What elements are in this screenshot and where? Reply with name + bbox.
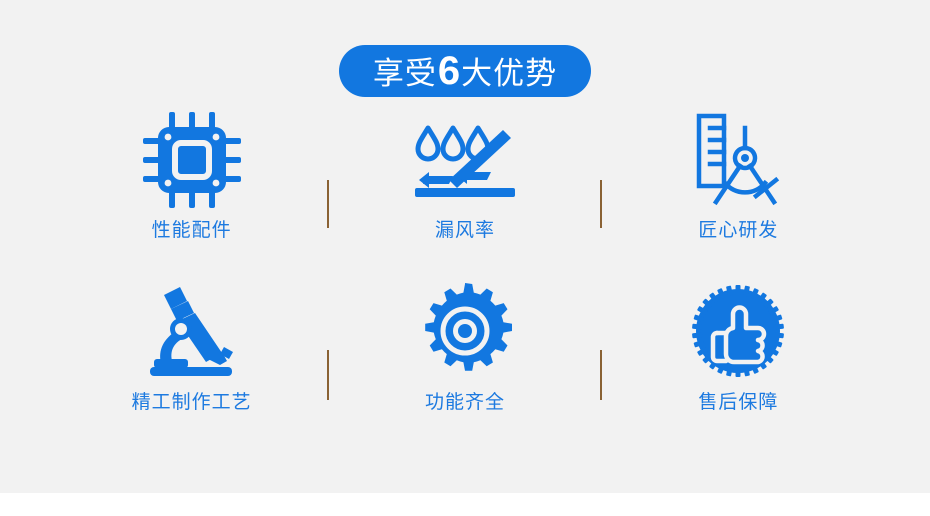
feature-label: 性能配件 xyxy=(152,220,232,243)
feature-label: 漏风率 xyxy=(435,220,495,243)
feature-row-2: 精工制作工艺 功能齐全 xyxy=(55,278,875,448)
gear-icon xyxy=(415,278,515,384)
banner-row: 享受6大优势 xyxy=(0,45,930,97)
feature-item-craftsman-rnd[interactable]: 匠心研发 xyxy=(602,108,875,278)
feature-item-air-leakage-rate[interactable]: 漏风率 xyxy=(328,108,601,278)
feature-item-performance-parts[interactable]: 性能配件 xyxy=(55,108,328,278)
column-divider xyxy=(327,350,329,400)
ruler-compass-icon xyxy=(688,108,788,212)
feature-grid: 性能配件 xyxy=(55,108,875,448)
feature-item-after-sales-guarantee[interactable]: 售后保障 xyxy=(602,278,875,448)
feature-label: 匠心研发 xyxy=(698,220,778,243)
headline-number: 6 xyxy=(437,45,461,97)
feature-row-1: 性能配件 xyxy=(55,108,875,278)
microscope-icon xyxy=(140,278,244,384)
feature-item-full-function[interactable]: 功能齐全 xyxy=(328,278,601,448)
promo-page: 享受6大优势 xyxy=(0,0,930,516)
feature-label: 功能齐全 xyxy=(425,392,505,415)
feature-item-fine-workmanship[interactable]: 精工制作工艺 xyxy=(55,278,328,448)
feature-label: 精工制作工艺 xyxy=(132,392,252,415)
cpu-chip-icon xyxy=(139,108,245,212)
thumbs-up-badge-icon xyxy=(688,278,788,384)
feature-label: 售后保障 xyxy=(698,392,778,415)
column-divider xyxy=(327,180,329,228)
column-divider xyxy=(600,180,602,228)
headline-banner: 享受6大优势 xyxy=(339,45,591,97)
water-drop-leak-icon xyxy=(409,108,521,212)
headline-text-before: 享受 xyxy=(373,48,437,100)
column-divider xyxy=(600,350,602,400)
headline-text-after: 大优势 xyxy=(461,48,557,100)
